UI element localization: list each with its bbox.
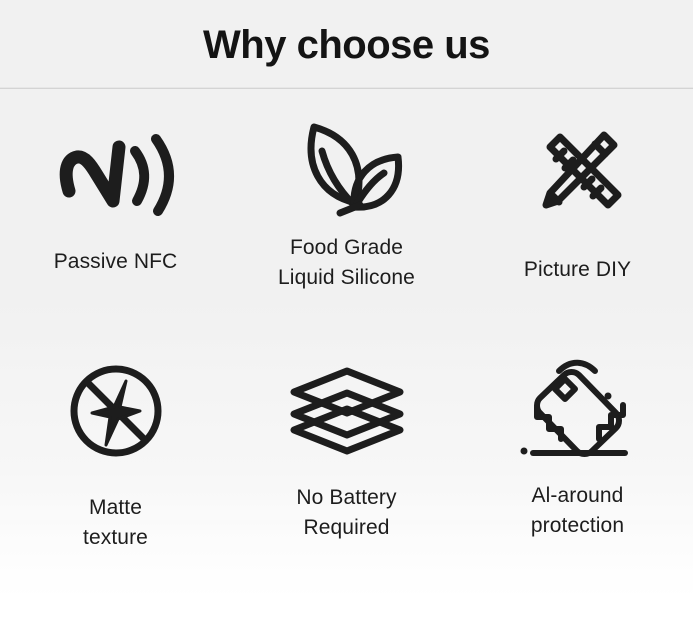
feature-label-line-1: Passive NFC (54, 247, 178, 277)
feature-label-line-1: Matte (83, 493, 148, 523)
feature-label-line-2: texture (83, 523, 148, 553)
feature-row-2: Matte texture No Battery (0, 353, 693, 583)
feature-label: Food Grade Liquid Silicone (278, 233, 415, 294)
nfc-icon (57, 113, 175, 225)
feature-label: No Battery Required (296, 483, 396, 544)
feature-label-line-1: Food Grade (278, 233, 415, 263)
phone-drop-protection-icon (519, 353, 637, 469)
feature-item-matte-texture: Matte texture (0, 353, 231, 583)
feature-label-line-1: Al-around (531, 481, 624, 511)
feature-label: Passive NFC (54, 247, 178, 277)
leaves-icon (284, 113, 410, 225)
feature-label: Picture DIY (524, 255, 631, 285)
page-title: Why choose us (203, 23, 490, 65)
feature-item-picture-diy: Picture DIY (462, 113, 693, 353)
feature-item-no-battery-required: No Battery Required (231, 353, 462, 583)
feature-label-line-1: Picture DIY (524, 255, 631, 285)
layers-icon (286, 353, 408, 469)
no-glare-icon (66, 353, 166, 475)
feature-label-line-2: protection (531, 511, 624, 541)
feature-label-line-1: No Battery (296, 483, 396, 513)
panel-header: Why choose us (0, 0, 693, 88)
feature-item-food-grade-liquid-silicone: Food Grade Liquid Silicone (231, 113, 462, 353)
feature-label-line-2: Liquid Silicone (278, 263, 415, 293)
pencil-ruler-icon (526, 113, 630, 225)
why-choose-us-panel: Why choose us (0, 0, 693, 634)
feature-label: Matte texture (83, 493, 148, 554)
feature-label-line-2: Required (296, 513, 396, 543)
feature-row-1: Passive NFC (0, 113, 693, 353)
feature-item-all-around-protection: Al-around protection (462, 353, 693, 583)
feature-grid: Passive NFC (0, 89, 693, 583)
feature-label: Al-around protection (531, 481, 624, 542)
feature-item-passive-nfc: Passive NFC (0, 113, 231, 353)
